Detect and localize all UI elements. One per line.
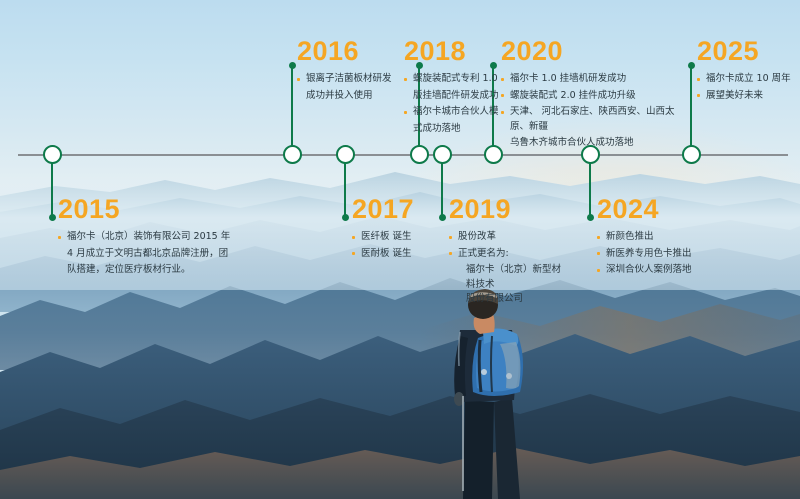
list-item: 队搭建，定位医疗板材行业。 [58,263,233,278]
milestone-year-2020: 2020 [501,38,691,65]
list-item: 股份有限公司 [449,292,567,307]
milestone-2016: 2016 银离子洁菌板材研发 成功并投入使用 [297,38,397,105]
list-item: 福尔卡 1.0 挂墙机研发成功 [501,72,691,87]
list-item: 福尔卡成立 10 周年 [697,72,797,87]
list-item: 新医养专用色卡推出 [597,247,722,262]
timeline-axis [18,154,788,156]
milestone-bullets-2016: 银离子洁菌板材研发 成功并投入使用 [297,72,397,103]
list-item: 乌鲁木齐城市合伙人成功落地 [501,136,691,151]
milestone-bullets-2024: 新颜色推出 新医养专用色卡推出 深圳合伙人案例落地 [597,230,722,278]
timeline-node-2015[interactable] [43,145,62,164]
list-item: 成功并投入使用 [297,89,397,104]
list-item: 福尔卡（北京）新型材料技术 [449,263,567,292]
milestone-year-2024: 2024 [597,196,722,223]
timeline-infographic: 2016 银离子洁菌板材研发 成功并投入使用 2018 螺旋装配式专利 1.0 … [0,0,800,499]
list-item: 螺旋装配式专利 1.0 [404,72,506,87]
list-item: 展望美好未来 [697,89,797,104]
milestone-bullets-2017: 医纤板 诞生 医耐板 诞生 [352,230,434,261]
timeline-stem-2015 [51,155,53,218]
milestone-2024: 2024 新颜色推出 新医养专用色卡推出 深圳合伙人案例落地 [597,196,722,280]
milestone-2020: 2020 福尔卡 1.0 挂墙机研发成功 螺旋装配式 2.0 挂件成功升级 天津… [501,38,691,153]
list-item: 螺旋装配式 2.0 挂件成功升级 [501,89,691,104]
list-item: 正式更名为: [449,247,567,262]
timeline-stem-2019 [441,155,443,218]
milestone-bullets-2019: 股份改革 正式更名为: 福尔卡（北京）新型材料技术 股份有限公司 [449,230,567,307]
timeline-stem-2024 [589,155,591,218]
list-item: 天津、 河北石家庄、陕西西安、山西太原、新疆 [501,105,691,134]
list-item: 福尔卡（北京）装饰有限公司 2015 年 [58,230,233,245]
timeline-stem-2016 [291,65,293,147]
milestone-bullets-2018: 螺旋装配式专利 1.0 版挂墙配件研发成功 福尔卡城市合伙人模 式成功落地 [404,72,506,136]
milestone-2017: 2017 医纤板 诞生 医耐板 诞生 [352,196,434,263]
timeline-stem-2017 [344,155,346,218]
timeline-node-2019[interactable] [433,145,452,164]
timeline-node-2018[interactable] [410,145,429,164]
milestone-2015: 2015 福尔卡（北京）装饰有限公司 2015 年 4 月成立于文明古都北京品牌… [58,196,233,280]
milestone-2025: 2025 福尔卡成立 10 周年 展望美好未来 [697,38,797,105]
milestone-year-2016: 2016 [297,38,397,65]
milestone-bullets-2015: 福尔卡（北京）装饰有限公司 2015 年 4 月成立于文明古都北京品牌注册，团 … [58,230,233,278]
milestone-year-2018: 2018 [404,38,506,65]
list-item: 银离子洁菌板材研发 [297,72,397,87]
milestone-bullets-2020: 福尔卡 1.0 挂墙机研发成功 螺旋装配式 2.0 挂件成功升级 天津、 河北石… [501,72,691,151]
list-item: 医纤板 诞生 [352,230,434,245]
timeline-node-2020[interactable] [484,145,503,164]
list-item: 医耐板 诞生 [352,247,434,262]
milestone-year-2019: 2019 [449,196,567,223]
list-item: 股份改革 [449,230,567,245]
milestone-2018: 2018 螺旋装配式专利 1.0 版挂墙配件研发成功 福尔卡城市合伙人模 式成功… [404,38,506,138]
list-item: 式成功落地 [404,122,506,137]
list-item: 福尔卡城市合伙人模 [404,105,506,120]
list-item: 版挂墙配件研发成功 [404,89,506,104]
milestone-year-2025: 2025 [697,38,797,65]
list-item: 4 月成立于文明古都北京品牌注册，团 [58,247,233,262]
milestone-year-2017: 2017 [352,196,434,223]
timeline-node-2017[interactable] [336,145,355,164]
timeline-node-2016[interactable] [283,145,302,164]
milestone-2019: 2019 股份改革 正式更名为: 福尔卡（北京）新型材料技术 股份有限公司 [449,196,567,307]
list-item: 深圳合伙人案例落地 [597,263,722,278]
milestone-year-2015: 2015 [58,196,233,223]
list-item: 新颜色推出 [597,230,722,245]
milestone-bullets-2025: 福尔卡成立 10 周年 展望美好未来 [697,72,797,103]
